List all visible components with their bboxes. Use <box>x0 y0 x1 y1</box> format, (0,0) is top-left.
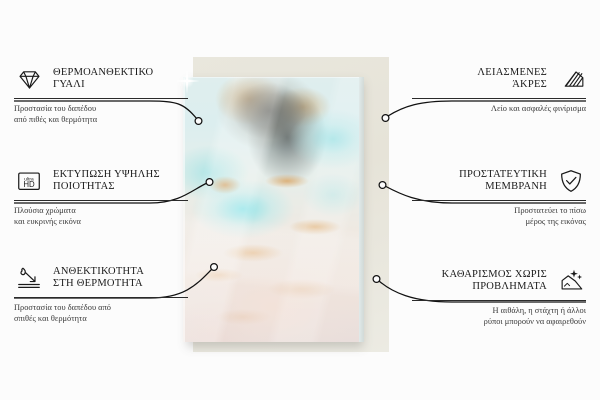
glass-wall-panel <box>183 77 359 342</box>
divider <box>412 98 586 99</box>
feature-header: ΘΕΡΜΟΑΝΘΕΚΤΙΚΟΓΥΑΛΙ <box>14 64 188 94</box>
divider <box>14 200 188 201</box>
glass-reflection-soft <box>183 77 359 342</box>
feature-description: Προστασία του δαπέδουαπό πιθές και θερμό… <box>14 104 188 125</box>
feature-protective-membrane[interactable]: ΠΡΟΣΤΑΤΕΥΤΙΚΗΜΕΜΒΡΑΝΗ Προστατεύει το πίσ… <box>412 166 586 227</box>
feature-header: ΚΑΘΑΡΙΣΜΟΣ ΧΩΡΙΣΠΡΟΒΛΗΜΑΤΑ <box>412 266 586 296</box>
feature-header: ultra HD ΕΚΤΥΠΩΣΗ ΥΨΗΛΗΣΠΟΙΟΤΗΤΑΣ <box>14 166 188 196</box>
feature-description: Η αιθάλη, η στάχτη ή άλλοιρύποι μπορούν … <box>412 306 586 327</box>
feature-heat-resistance[interactable]: ΑΝΘΕΚΤΙΚΟΤΗΤΑΣΤΗ ΘΕΡΜΟΤΗΤΑ Προστασία του… <box>14 263 188 324</box>
diamond-icon <box>14 64 44 94</box>
feature-title: ΚΑΘΑΡΙΣΜΟΣ ΧΩΡΙΣΠΡΟΒΛΗΜΑΤΑ <box>442 269 547 294</box>
feature-title: ΛΕΙΑΣΜΕΝΕΣΆΚΡΕΣ <box>477 67 547 92</box>
feature-high-quality-print[interactable]: ultra HD ΕΚΤΥΠΩΣΗ ΥΨΗΛΗΣΠΟΙΟΤΗΤΑΣ Πλούσι… <box>14 166 188 227</box>
feature-header: ΑΝΘΕΚΤΙΚΟΤΗΤΑΣΤΗ ΘΕΡΜΟΤΗΤΑ <box>14 263 188 293</box>
shield-check-icon <box>556 166 586 196</box>
ultra-hd-icon: ultra HD <box>14 166 44 196</box>
feature-title: ΠΡΟΣΤΑΤΕΥΤΙΚΗΜΕΜΒΡΑΝΗ <box>459 169 547 194</box>
glass-thickness-edge <box>359 77 364 342</box>
product-image-area <box>183 57 389 357</box>
divider <box>412 200 586 201</box>
feature-heat-resistant-glass[interactable]: ΘΕΡΜΟΑΝΘΕΚΤΙΚΟΓΥΑΛΙ Προστασία του δαπέδο… <box>14 64 188 125</box>
feature-description: Λείο και ασφαλές φινίρισμα <box>412 104 586 115</box>
divider <box>412 300 586 301</box>
feature-title: ΑΝΘΕΚΤΙΚΟΤΗΤΑΣΤΗ ΘΕΡΜΟΤΗΤΑ <box>53 266 144 291</box>
feature-title: ΘΕΡΜΟΑΝΘΕΚΤΙΚΟΓΥΑΛΙ <box>53 67 153 92</box>
flame-deflect-icon <box>14 263 44 293</box>
polished-edges-icon <box>556 64 586 94</box>
divider <box>14 98 188 99</box>
svg-text:HD: HD <box>23 180 35 189</box>
feature-polished-edges[interactable]: ΛΕΙΑΣΜΕΝΕΣΆΚΡΕΣ Λείο και ασφαλές φινίρισ… <box>412 64 586 115</box>
feature-header: ΠΡΟΣΤΑΤΕΥΤΙΚΗΜΕΜΒΡΑΝΗ <box>412 166 586 196</box>
feature-description: Προστατεύει το πίσωμέρος της εικόνας <box>412 206 586 227</box>
divider <box>14 297 188 298</box>
feature-header: ΛΕΙΑΣΜΕΝΕΣΆΚΡΕΣ <box>412 64 586 94</box>
sparkle-clean-icon <box>556 266 586 296</box>
feature-description: Πλούσια χρώματακαι ευκρινής εικόνα <box>14 206 188 227</box>
feature-easy-cleaning[interactable]: ΚΑΘΑΡΙΣΜΟΣ ΧΩΡΙΣΠΡΟΒΛΗΜΑΤΑ Η αιθάλη, η σ… <box>412 266 586 327</box>
infographic-canvas: ΘΕΡΜΟΑΝΘΕΚΤΙΚΟΓΥΑΛΙ Προστασία του δαπέδο… <box>0 0 600 400</box>
feature-title: ΕΚΤΥΠΩΣΗ ΥΨΗΛΗΣΠΟΙΟΤΗΤΑΣ <box>53 169 160 194</box>
feature-description: Προστασία του δαπέδου απόσπιθές και θερμ… <box>14 303 188 324</box>
